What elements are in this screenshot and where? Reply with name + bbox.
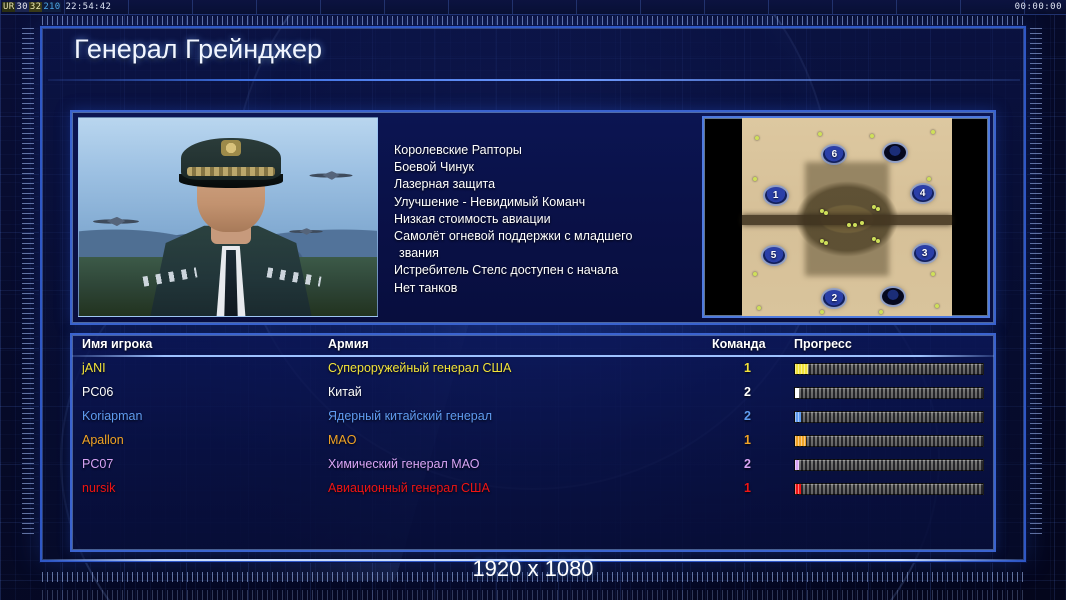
progress-bar-fill (795, 364, 808, 374)
player-army: Ядерный китайский генерал (328, 409, 492, 423)
table-row[interactable]: nursikАвиационный генерал США1 (72, 477, 994, 501)
player-name: jANI (82, 361, 106, 375)
officer-cap-badge-icon (221, 140, 241, 156)
ability-item: Боевой Чинук (394, 159, 694, 176)
progress-bar (794, 387, 984, 399)
minimap-resource-icon (820, 310, 824, 314)
minimap-image[interactable]: 614532 (742, 118, 952, 318)
progress-bar (794, 483, 984, 495)
table-row[interactable]: PC06Китай2 (72, 381, 994, 405)
minimap-resource-icon (931, 272, 935, 276)
player-army: Супероружейный генерал США (328, 361, 511, 375)
ability-item: Низкая стоимость авиации (394, 211, 694, 228)
page-title: Генерал Грейнджер (74, 34, 322, 65)
general-info-panel: Королевские Рапторы Боевой Чинук Лазерна… (70, 110, 996, 325)
column-header-army: Армия (328, 337, 369, 351)
title-underline (48, 79, 1020, 81)
column-header-name: Имя игрока (82, 337, 152, 351)
top-status-bar: UR303221022:54:42 00:00:00 (0, 0, 1066, 15)
minimap-resource-icon (870, 134, 874, 138)
ruler-bottom-secondary (42, 590, 1026, 600)
table-row[interactable]: jANIСупероружейный генерал США1 (72, 357, 994, 381)
minimap-container[interactable]: 614532 (702, 116, 990, 318)
ruler-top (42, 16, 1026, 26)
progress-bar-fill (795, 484, 801, 494)
player-list-header: Имя игрока Армия Команда Прогресс (72, 335, 994, 355)
ruler-right (1030, 28, 1042, 538)
progress-bar-fill (795, 436, 806, 446)
title-section: Генерал Грейнджер (48, 32, 1020, 82)
minimap-resource-icon (927, 177, 931, 181)
table-row[interactable]: KoriapmanЯдерный китайский генерал2 (72, 405, 994, 429)
player-name: nursik (82, 481, 115, 495)
progress-bar (794, 435, 984, 447)
player-rows: jANIСупероружейный генерал США1PC06Китай… (72, 357, 994, 501)
resolution-label: 1920 x 1080 (0, 556, 1066, 582)
player-army: MAO (328, 433, 356, 447)
minimap-start-position[interactable]: 2 (823, 290, 845, 307)
minimap-resource-icon (860, 221, 864, 225)
player-name: Apallon (82, 433, 124, 447)
net-stat-2: 32 (29, 2, 42, 12)
general-portrait (78, 117, 378, 317)
minimap-start-position-empty[interactable] (882, 288, 904, 305)
minimap-resource-icon (757, 306, 761, 310)
progress-bar (794, 363, 984, 375)
minimap-resource-icon (931, 130, 935, 134)
ruler-left (22, 28, 34, 538)
net-stat-0: UR (2, 2, 15, 12)
officer-figure (135, 138, 327, 316)
ability-item-continuation: звания (394, 245, 694, 262)
minimap-start-position-empty[interactable] (884, 144, 906, 161)
minimap-resource-icon (935, 304, 939, 308)
minimap-start-position[interactable]: 4 (912, 185, 934, 202)
player-list-panel: Имя игрока Армия Команда Прогресс jANIСу… (70, 333, 996, 552)
column-header-progress: Прогресс (794, 337, 852, 351)
ability-item: Истребитель Стелс доступен с начала (394, 262, 694, 279)
minimap-resource-icon (755, 136, 759, 140)
system-clock: 22:54:42 (65, 2, 111, 12)
minimap-start-position[interactable]: 6 (823, 146, 845, 163)
progress-bar (794, 459, 984, 471)
network-stats: UR303221022:54:42 (2, 1, 111, 13)
minimap-resource-icon (847, 223, 851, 227)
ability-item: Лазерная защита (394, 176, 694, 193)
net-stat-1: 30 (15, 2, 28, 12)
ability-item: Нет танков (394, 280, 694, 297)
minimap-resource-icon (753, 272, 757, 276)
player-army: Химический генерал МАО (328, 457, 479, 471)
ability-item: Королевские Рапторы (394, 142, 694, 159)
progress-bar-fill (795, 460, 799, 470)
ability-item: Самолёт огневой поддержки с младшего (394, 228, 694, 245)
net-stat-3: 210 (42, 2, 61, 12)
table-row[interactable]: PC07Химический генерал МАО2 (72, 453, 994, 477)
progress-bar-fill (795, 388, 799, 398)
progress-bar-fill (795, 412, 801, 422)
player-team: 1 (744, 481, 751, 495)
player-team: 2 (744, 409, 751, 423)
jet-icon (93, 217, 139, 226)
progress-bar (794, 411, 984, 423)
player-name: Koriapman (82, 409, 142, 423)
minimap-start-position[interactable]: 1 (765, 187, 787, 204)
ability-item: Улучшение - Невидимый Команч (394, 194, 694, 211)
player-name: PC06 (82, 385, 113, 399)
minimap-resource-icon (824, 211, 828, 215)
player-army: Авиационный генерал США (328, 481, 490, 495)
game-lobby-screen: UR303221022:54:42 00:00:00 Генерал Грейн… (0, 0, 1066, 600)
top-status-ticks (0, 0, 1066, 14)
minimap-resource-icon (818, 132, 822, 136)
player-team: 1 (744, 433, 751, 447)
player-army: Китай (328, 385, 362, 399)
minimap-resource-icon (879, 310, 883, 314)
minimap-start-position[interactable]: 3 (914, 245, 936, 262)
general-abilities-list: Королевские Рапторы Боевой Чинук Лазерна… (394, 142, 694, 297)
player-team: 2 (744, 385, 751, 399)
match-timer: 00:00:00 (1015, 1, 1062, 13)
column-header-team: Команда (712, 337, 766, 351)
officer-cap-braid (187, 167, 275, 176)
minimap-start-position[interactable]: 5 (763, 247, 785, 264)
player-team: 1 (744, 361, 751, 375)
minimap-resource-icon (753, 177, 757, 181)
table-row[interactable]: ApallonMAO1 (72, 429, 994, 453)
player-team: 2 (744, 457, 751, 471)
player-name: PC07 (82, 457, 113, 471)
